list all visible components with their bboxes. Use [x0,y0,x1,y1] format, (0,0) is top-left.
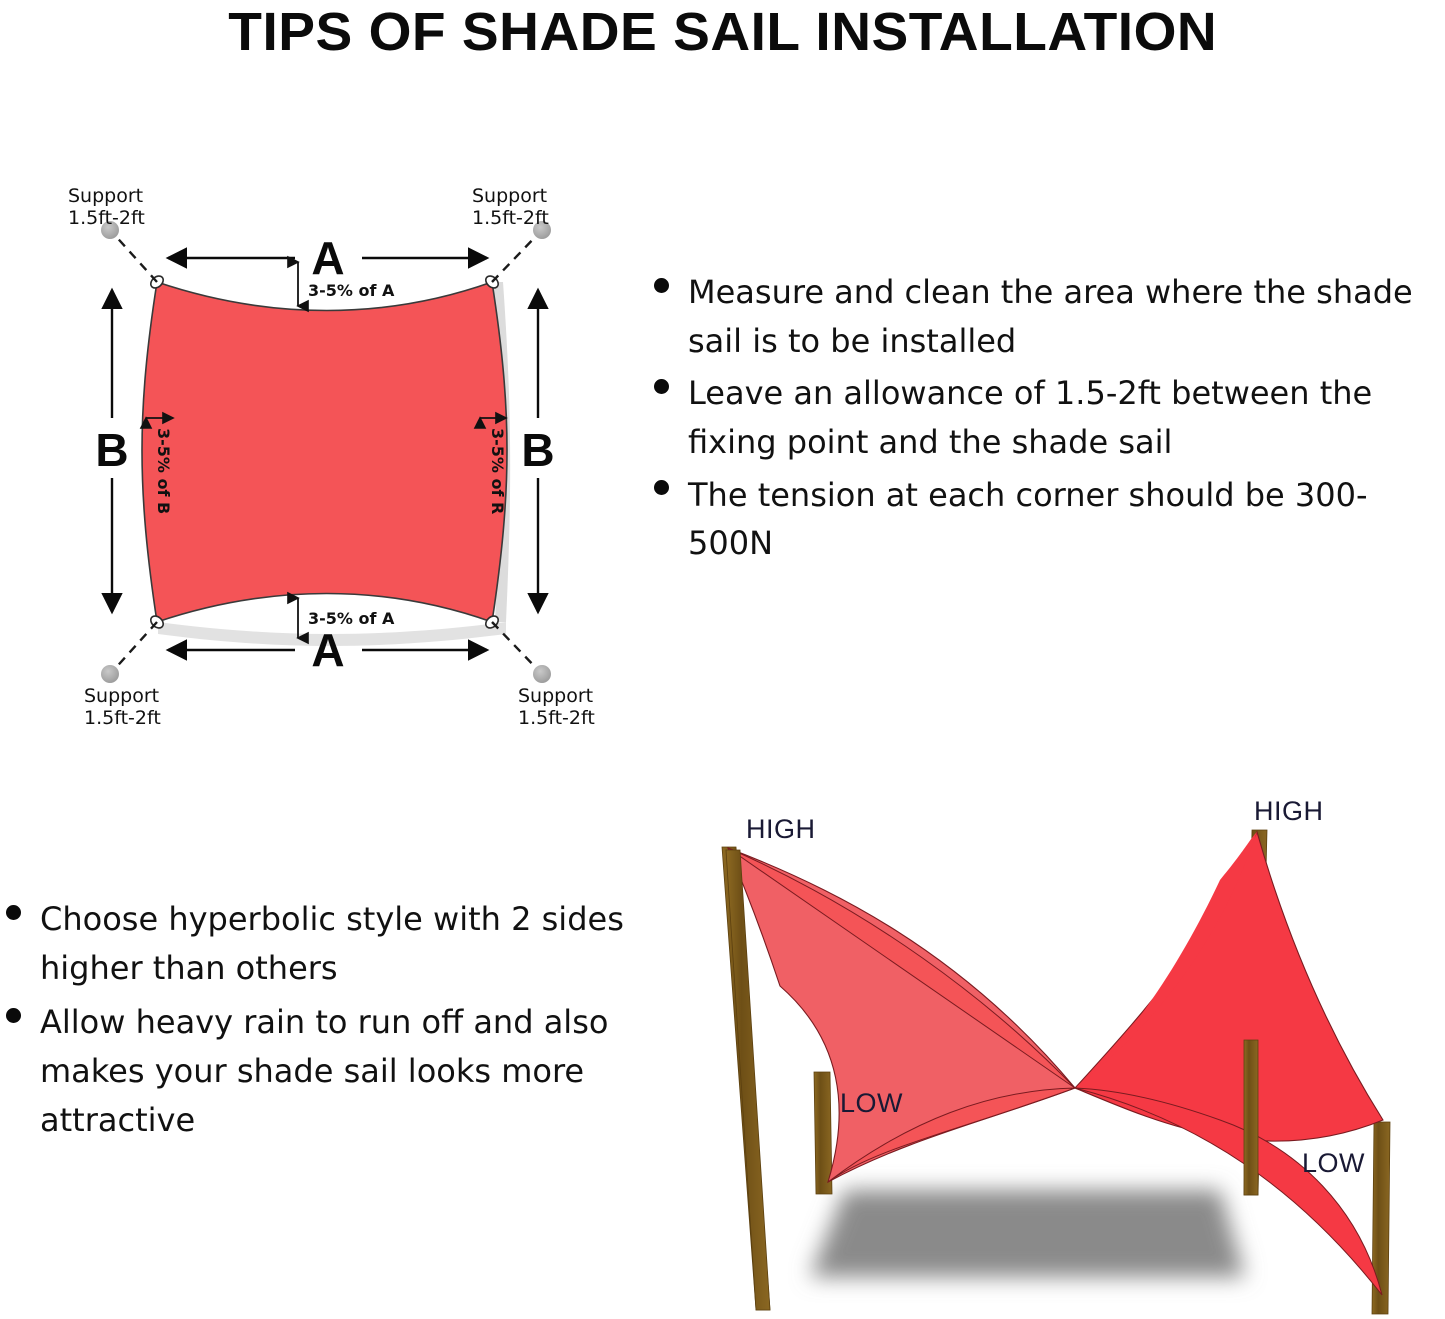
support-line-bottom-left [112,622,157,672]
page-title: TIPS OF SHADE SAIL INSTALLATION [228,5,1217,59]
slack-label-bottom: 3-5% of A [308,609,395,628]
list-item: Leave an allowance of 1.5-2ft between th… [648,369,1445,466]
list-item: Allow heavy rain to run off and also mak… [0,998,630,1144]
support-label-bottom-left-line1: Support [84,685,159,707]
tip-text: Choose hyperbolic style with 2 sides hig… [40,895,630,992]
dimension-label-top-A: A [311,232,344,284]
bullet-dot-icon [6,905,21,920]
bullet-dot-icon [654,379,669,394]
installation-tips-list-bottom: Choose hyperbolic style with 2 sides hig… [0,895,630,1150]
support-label-top-left-line2: 1.5ft-2ft [68,207,145,229]
tip-text: The tension at each corner should be 300… [688,471,1445,568]
support-dot-bottom-left [101,665,119,683]
square-sail-shape [142,282,507,622]
corner-label-low-right: LOW [1302,1148,1365,1178]
bullet-dot-icon [654,480,669,495]
tip-text: Allow heavy rain to run off and also mak… [40,998,630,1144]
slack-label-top: 3-5% of A [308,281,395,300]
pole-high-right-front [1244,1040,1258,1195]
support-label-top-left-line1: Support [68,185,143,207]
bullet-dot-icon [654,278,669,293]
list-item: Measure and clean the area where the sha… [648,268,1445,365]
dimension-label-right-B: B [521,424,554,476]
tip-text: Leave an allowance of 1.5-2ft between th… [688,369,1445,466]
support-dot-bottom-right [533,665,551,683]
hyperbolic-shade-sail-illustration: HIGH HIGH LOW LOW [660,790,1445,1319]
support-label-bottom-right-line2: 1.5ft-2ft [518,707,595,729]
support-line-top-right [492,232,540,282]
ground-shadow [810,1190,1245,1277]
square-shade-sail-measurement-diagram: A 3-5% of A A 3-5% of A B 3-5% of B B 3-… [40,160,650,740]
support-line-top-left [112,232,157,282]
tip-text: Measure and clean the area where the sha… [688,268,1445,365]
support-label-bottom-left-line2: 1.5ft-2ft [84,707,161,729]
support-label-top-right-line2: 1.5ft-2ft [472,207,549,229]
support-label-bottom-right-line1: Support [518,685,593,707]
dimension-label-bottom-A: A [311,624,344,676]
sail-panel-front-left [728,848,1075,1182]
list-item: The tension at each corner should be 300… [648,471,1445,568]
installation-tips-list-right: Measure and clean the area where the sha… [648,268,1445,572]
support-label-top-right-line1: Support [472,185,547,207]
slack-label-left: 3-5% of B [154,428,173,514]
corner-label-low-left: LOW [840,1088,903,1118]
list-item: Choose hyperbolic style with 2 sides hig… [0,895,630,992]
dimension-label-left-B: B [95,424,128,476]
corner-label-high-right: HIGH [1254,796,1324,826]
bullet-dot-icon [6,1008,21,1023]
slack-label-right: 3-5% of R [488,428,507,514]
title-bar: TIPS OF SHADE SAIL INSTALLATION [0,0,1445,64]
corner-label-high-left: HIGH [746,814,816,844]
